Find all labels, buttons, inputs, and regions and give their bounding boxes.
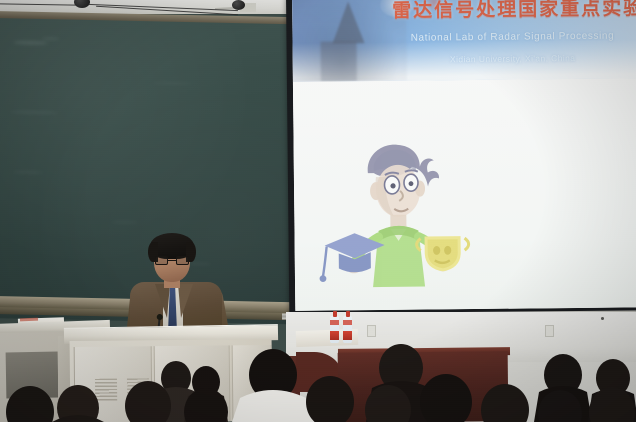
eyeglasses-icon (155, 256, 189, 265)
chalk-smudge (10, 110, 58, 114)
wall-fixture-dot (601, 317, 604, 320)
slide-header-banner: 雷达信号处理国家重点实验室 National Lab of Radar Sign… (292, 0, 636, 82)
lecture-hall-photo: 雷达信号处理国家重点实验室 National Lab of Radar Sign… (0, 0, 636, 422)
slide-subtitle-english: National Lab of Radar Signal Processing (292, 30, 636, 45)
eyeglass-lens-right (176, 256, 189, 265)
ceiling-wire (0, 3, 76, 5)
cartoon-graduate-icon (315, 128, 477, 290)
audience-group (0, 330, 636, 422)
audience-row-front (6, 349, 635, 422)
projection-screen-frame: 雷达信号处理国家重点实验室 National Lab of Radar Sign… (286, 0, 636, 319)
eyeglass-lens-left (155, 256, 168, 265)
chalk-smudge (112, 221, 138, 225)
presentation-slide: 雷达信号处理国家重点实验室 National Lab of Radar Sign… (292, 0, 636, 311)
desk-paper-red-marking (20, 318, 38, 322)
slide-body (293, 78, 636, 311)
bottle-neck-label (343, 320, 352, 325)
presenter-lapel-left (155, 284, 170, 318)
chalk-smudge (13, 170, 43, 174)
slide-title: 雷达信号处理国家重点实验室 (292, 0, 636, 24)
bottle-neck-label (330, 320, 339, 325)
chalk-smudge (153, 81, 193, 85)
eyeglass-bridge (168, 260, 176, 261)
ceiling-speaker-icon (232, 0, 245, 10)
presenter-lapel-right (178, 284, 193, 318)
chalk-smudge (42, 37, 60, 40)
chalk-smudge (13, 40, 47, 45)
presenter (118, 228, 238, 338)
projection-screen: 雷达信号处理国家重点实验室 National Lab of Radar Sign… (292, 0, 636, 311)
